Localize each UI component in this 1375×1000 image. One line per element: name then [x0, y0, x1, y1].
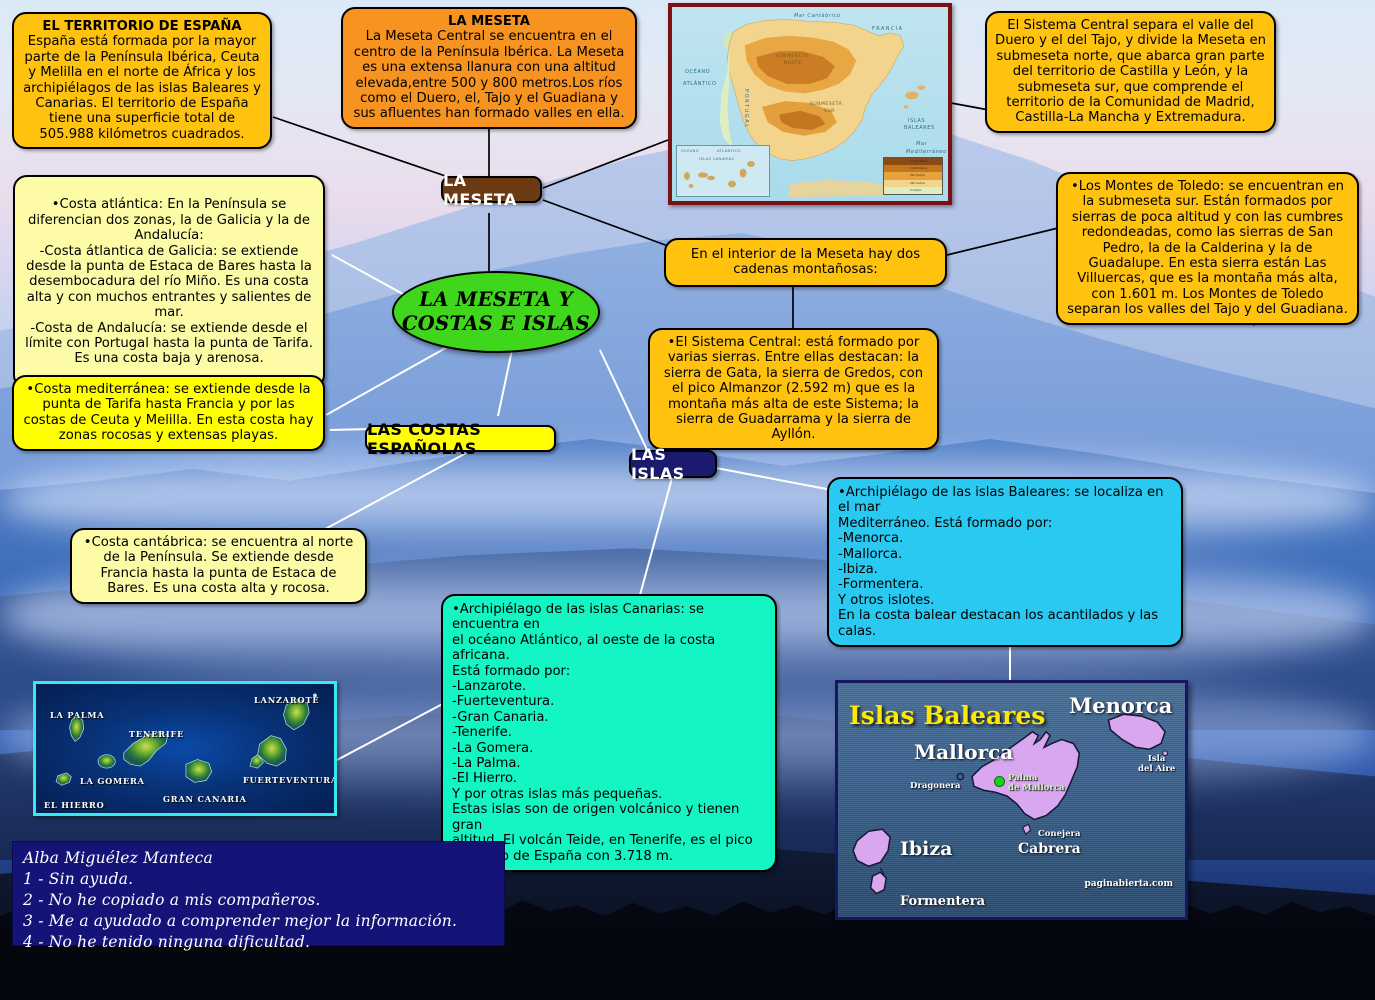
baleares-watermark: paginabierta.com	[1084, 879, 1173, 889]
box-montes-de-toledo: •Los Montes de Toledo: se encuentran en …	[1056, 172, 1359, 325]
map-spain-relief: Mar Cantábrico FRANCIA OCÉANO ATLÁNTICO …	[668, 3, 952, 205]
baleares-line: -Ibiza.	[838, 562, 1172, 577]
map-spain-label-portugal: PORTUGAL	[743, 89, 749, 129]
box-costa-cantabrica-body: •Costa cantábrica: se encuentra al norte…	[79, 535, 358, 597]
map-spain-label-cantabrico: Mar Cantábrico	[794, 13, 841, 19]
baleares-line: En la costa balear destacan los acantila…	[838, 608, 1172, 639]
signature-items: 1 - Sin ayuda.2 - No he copiado a mis co…	[23, 869, 494, 953]
central-title-line1: LA MESETA Y	[419, 288, 573, 312]
baleares-line: -Menorca.	[838, 531, 1172, 546]
canarias-label-la-palma: LA PALMA	[50, 710, 104, 720]
canarias-line: Y por otras islas más pequeñas.	[452, 787, 766, 802]
canarias-label-fuerteventura: FUERTEVENTURA	[243, 775, 337, 785]
map-spain-label-atlantico: ATLÁNTICO	[683, 81, 717, 87]
mindmap-canvas: EL TERRITORIO DE ESPAÑA España está form…	[0, 0, 1375, 1000]
canarias-line: •Archipiélago de las islas Canarias: se …	[452, 602, 766, 633]
node-las-costas-label: LAS COSTAS ESPAÑOLAS	[367, 420, 554, 458]
signature-item: 2 - No he copiado a mis compañeros.	[23, 890, 494, 911]
map-spain-inset-canarias: OCÉANO ATLÁNTICO ISLAS CANARIAS	[676, 145, 770, 197]
canarias-line: -Lanzarote.	[452, 679, 766, 694]
box-la-meseta-definicion: LA MESETA La Meseta Central se encuentra…	[341, 7, 637, 129]
canarias-label-el-hierro: EL HIERRO	[44, 800, 105, 810]
canarias-label-lanzarote: LANZAROTE	[254, 695, 319, 705]
baleares-label-conejera: Conejera	[1038, 829, 1081, 839]
line-islas-titulo	[600, 350, 648, 452]
canarias-label-la-gomera: LA GOMERA	[80, 776, 145, 786]
baleares-capital-marker	[994, 776, 1005, 787]
baleares-line: -Formentera.	[838, 577, 1172, 592]
canarias-line: -El Hierro.	[452, 771, 766, 786]
canarias-label-tenerife: TENERIFE	[129, 729, 184, 739]
box-montes-toledo-body: •Los Montes de Toledo: se encuentran en …	[1065, 179, 1350, 318]
baleares-label-dragonera: Dragonera	[910, 781, 961, 791]
baleares-label-ibiza: Ibiza	[900, 838, 953, 860]
legend-item-2: 500 metros	[884, 172, 942, 179]
box-costa-mediterranea: •Costa mediterránea: se extiende desde l…	[12, 375, 325, 451]
map-spain-legend: 2.000 metros 1.000 metros 500 metros 200…	[883, 157, 943, 195]
inset-canarias-shapes	[677, 146, 769, 196]
box-costa-mediterranea-body: •Costa mediterránea: se extiende desde l…	[21, 382, 316, 444]
canarias-line: -Gran Canaria.	[452, 710, 766, 725]
baleares-line: •Archipiélago de las islas Baleares: se …	[838, 485, 1172, 516]
box-sistema-central: •El Sistema Central: está formado por va…	[648, 328, 939, 450]
canarias-line: -La Palma.	[452, 756, 766, 771]
baleares-label-cabrera: Cabrera	[1018, 841, 1081, 857]
box-territorio-espana: EL TERRITORIO DE ESPAÑA España está form…	[12, 12, 272, 149]
baleares-label-isla-del-aire: Isla del Aire	[1138, 754, 1175, 774]
node-central-title[interactable]: LA MESETA Y COSTAS E ISLAS	[392, 271, 600, 353]
baleares-label-mallorca: Mallorca	[914, 740, 1013, 764]
box-baleares-lines: •Archipiélago de las islas Baleares: se …	[838, 485, 1172, 639]
signature-item: 3 - Me a ayudado a comprender mejor la i…	[23, 911, 494, 932]
box-costa-atlantica: •Costa atlántica: En la Península se dif…	[13, 175, 325, 389]
node-la-meseta-label: LA MESETA	[443, 171, 540, 209]
map-spain-label-submeseta-norte-2: NORTE	[784, 61, 802, 66]
canarias-line: -Tenerife.	[452, 725, 766, 740]
canarias-line: -La Gomera.	[452, 741, 766, 756]
map-spain-label-baleares: BALEARES	[904, 125, 935, 131]
baleares-map-title: Islas Baleares	[849, 701, 1045, 730]
box-territorio-title: EL TERRITORIO DE ESPAÑA	[21, 19, 263, 34]
box-meseta-def-body: La Meseta Central se encuentra en el cen…	[350, 29, 628, 121]
map-spain-label-islas: ISLAS	[908, 118, 925, 124]
map-spain-label-submeseta-norte-1: SUBMESETA	[776, 54, 808, 59]
legend-item-4: 0 metros	[884, 187, 942, 194]
map-spain-label-mediterraneo: Mediterráneo	[906, 149, 947, 155]
legend-item-1: 1.000 metros	[884, 165, 942, 172]
box-sistema-central-submesetas: El Sistema Central separa el valle del D…	[985, 11, 1276, 133]
node-las-costas-espanolas[interactable]: LAS COSTAS ESPAÑOLAS	[365, 425, 556, 452]
central-title-line2: COSTAS E ISLAS	[402, 312, 590, 336]
map-spain-label-francia: FRANCIA	[872, 26, 904, 32]
line-costas-titulo	[498, 350, 512, 416]
baleares-label-menorca: Menorca	[1069, 693, 1172, 718]
canarias-line: Está formado por:	[452, 664, 766, 679]
box-sistema-central-body: •El Sistema Central: está formado por va…	[657, 335, 930, 443]
signature-item: 1 - Sin ayuda.	[23, 869, 494, 890]
baleares-line: Y otros islotes.	[838, 593, 1172, 608]
box-canarias-lines: •Archipiélago de las islas Canarias: se …	[452, 602, 766, 864]
box-territorio-body: España está formada por la mayor parte d…	[21, 34, 263, 142]
baleares-line: -Mallorca.	[838, 547, 1172, 562]
signature-item: 4 - No he tenido ninguna dificultad.	[23, 932, 494, 953]
box-costa-atlantica-body: •Costa atlántica: En la Península se dif…	[22, 197, 316, 366]
canarias-line: Estas islas son de origen volcánico y ti…	[452, 802, 766, 833]
legend-item-3: 200 metros	[884, 180, 942, 187]
line-titulo-costa-mediterranea	[326, 345, 451, 415]
box-islas-baleares: •Archipiélago de las islas Baleares: se …	[827, 477, 1183, 647]
baleares-line: Mediterráneo. Está formado por:	[838, 516, 1172, 531]
box-islas-canarias: •Archipiélago de las islas Canarias: se …	[441, 594, 777, 872]
canarias-line: el océano Atlántico, al oeste de la cost…	[452, 633, 766, 664]
box-cadenas-montanosas: En el interior de la Meseta hay dos cade…	[664, 238, 947, 287]
line-meseta-mapa	[543, 140, 668, 188]
baleares-label-palma: Palma de Mallorca	[1008, 773, 1065, 793]
legend-item-0: 2.000 metros	[884, 158, 942, 165]
node-la-meseta[interactable]: LA MESETA	[441, 176, 542, 203]
node-las-islas[interactable]: LAS ISLAS	[629, 450, 717, 478]
map-spain-label-oceano: OCÉANO	[685, 69, 710, 75]
canarias-line: -Fuerteventura.	[452, 694, 766, 709]
map-spain-label-submeseta-sur-3: SUR	[824, 109, 835, 114]
line-canarias-mapa	[337, 700, 450, 760]
line-cadenas-montes-toledo	[947, 228, 1058, 255]
signature-name: Alba Miguélez Manteca	[23, 848, 494, 869]
box-costa-cantabrica: •Costa cantábrica: se encuentra al norte…	[70, 528, 367, 604]
box-sistema-central-submesetas-body: El Sistema Central separa el valle del D…	[994, 18, 1267, 126]
baleares-label-formentera: Formentera	[900, 894, 985, 909]
box-cadenas-body: En el interior de la Meseta hay dos cade…	[673, 247, 938, 278]
line-islas-canarias	[640, 478, 672, 595]
map-baleares: Islas Baleares Mallorca Menorca Ibiza Fo…	[835, 680, 1188, 920]
map-spain-label-mar: Mar	[916, 141, 927, 147]
line-meseta-cadenas	[543, 200, 668, 246]
map-canarias: LA PALMA TENERIFE LA GOMERA EL HIERRO GR…	[33, 681, 337, 816]
canarias-label-gran-canaria: GRAN CANARIA	[163, 794, 247, 804]
box-meseta-def-title: LA MESETA	[350, 14, 628, 29]
map-spain-label-submeseta-sur-1: SUBMESETA	[810, 102, 842, 107]
node-las-islas-label: LAS ISLAS	[631, 445, 715, 483]
signature-box: Alba Miguélez Manteca 1 - Sin ayuda.2 - …	[12, 841, 505, 946]
